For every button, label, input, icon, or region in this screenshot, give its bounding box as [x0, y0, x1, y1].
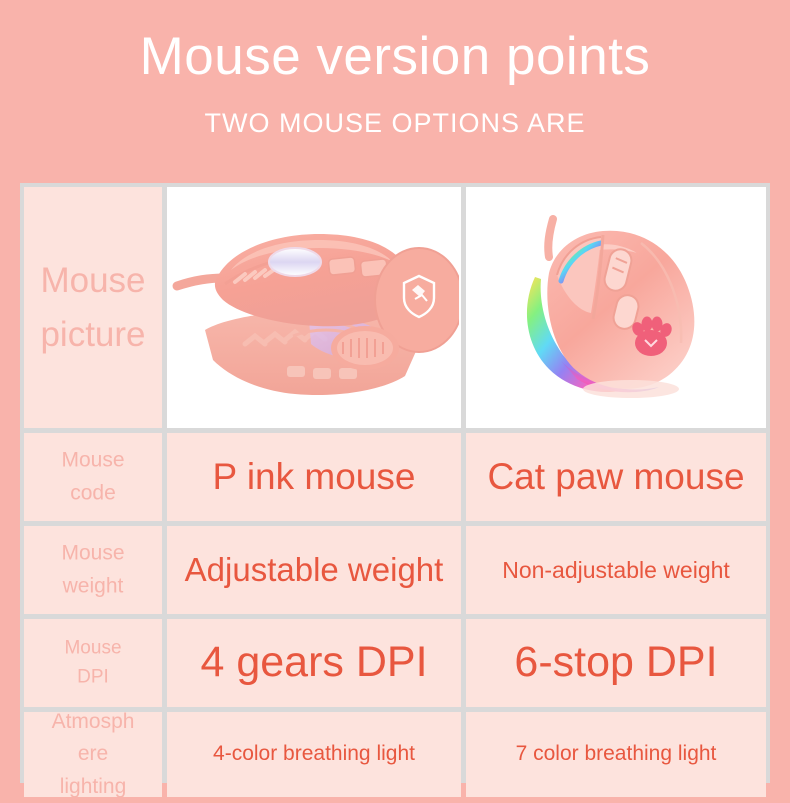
- product-image-cat-paw-mouse: [466, 187, 766, 428]
- cell-mouse-weight-left: Adjustable weight: [167, 526, 461, 614]
- page-title: Mouse version points: [0, 26, 790, 88]
- value-mouse-dpi-right: 6-stop DPI: [508, 638, 723, 687]
- value-mouse-code-left: P ink mouse: [207, 456, 422, 499]
- cell-mouse-dpi-left: 4 gears DPI: [167, 619, 461, 707]
- page-subtitle: TWO MOUSE OPTIONS ARE: [0, 106, 790, 140]
- value-atmosphere-lighting-right: 7 color breathing light: [510, 742, 723, 766]
- pink-gaming-mouse-icon: [169, 208, 459, 408]
- value-mouse-code-right: Cat paw mouse: [481, 456, 750, 499]
- value-atmosphere-lighting-left: 4-color breathing light: [207, 742, 421, 766]
- page-header: Mouse version points TWO MOUSE OPTIONS A…: [0, 0, 790, 140]
- cell-mouse-code-left: P ink mouse: [167, 433, 461, 521]
- table-row-mouse-picture: Mouse picture: [24, 187, 766, 428]
- cell-mouse-dpi-right: 6-stop DPI: [466, 619, 766, 707]
- cell-atmosphere-lighting-left: 4-color breathing light: [167, 712, 461, 797]
- cell-mouse-weight-right: Non-adjustable weight: [466, 526, 766, 614]
- table-row-mouse-weight: Mouse weight Adjustable weight Non-adjus…: [24, 526, 766, 614]
- value-mouse-dpi-left: 4 gears DPI: [194, 638, 433, 687]
- table-row-atmosphere-lighting: Atmosph ere lighting 4-color breathing l…: [24, 712, 766, 797]
- cat-paw-rgb-mouse-icon: [491, 203, 741, 413]
- comparison-table: Mouse picture: [20, 183, 770, 783]
- row-label-mouse-weight: Mouse weight: [24, 526, 162, 614]
- row-label-mouse-picture: Mouse picture: [24, 187, 162, 428]
- cell-atmosphere-lighting-right: 7 color breathing light: [466, 712, 766, 797]
- row-label-atmosphere-lighting: Atmosph ere lighting: [24, 712, 162, 797]
- row-label-mouse-code: Mouse code: [24, 433, 162, 521]
- value-mouse-weight-left: Adjustable weight: [179, 551, 450, 589]
- value-mouse-weight-right: Non-adjustable weight: [496, 557, 736, 583]
- product-image-pink-mouse: [167, 187, 461, 428]
- row-label-mouse-dpi: Mouse DPI: [24, 619, 162, 707]
- table-row-mouse-dpi: Mouse DPI 4 gears DPI 6-stop DPI: [24, 619, 766, 707]
- cell-mouse-code-right: Cat paw mouse: [466, 433, 766, 521]
- table-row-mouse-code: Mouse code P ink mouse Cat paw mouse: [24, 433, 766, 521]
